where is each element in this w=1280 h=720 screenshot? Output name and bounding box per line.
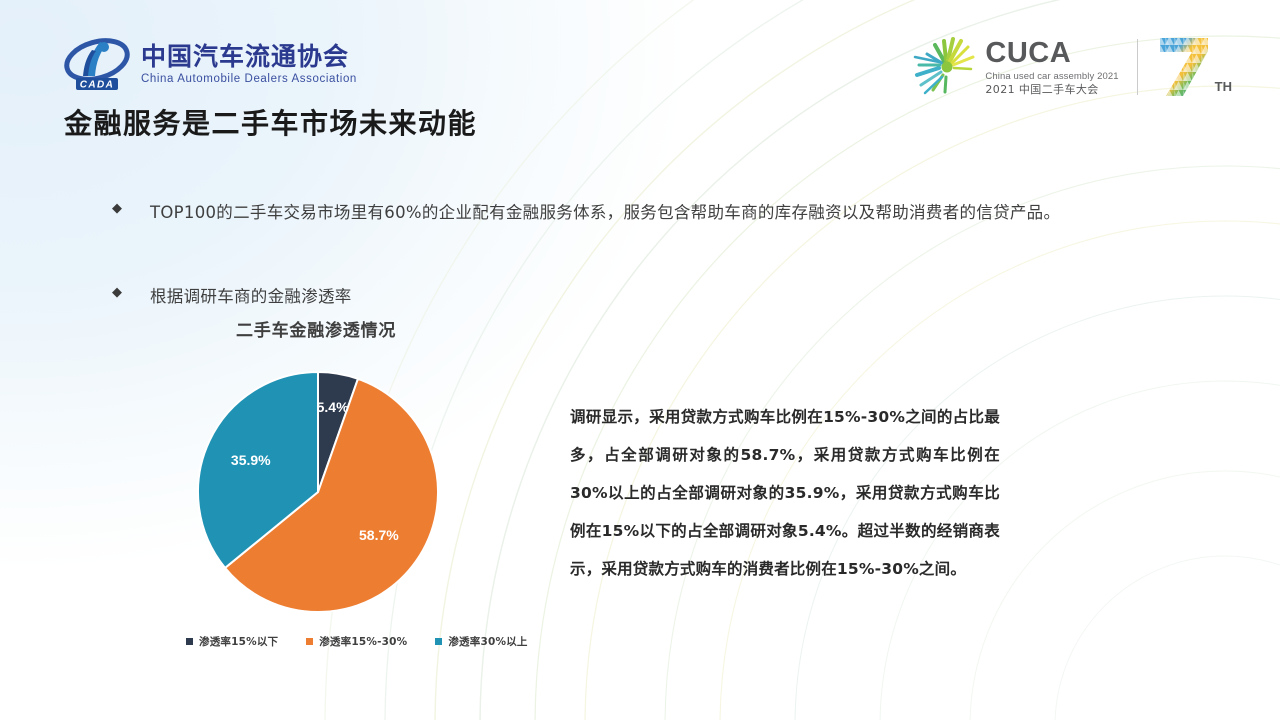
cuca-wordmark: CUCA	[985, 38, 1118, 68]
legend-item[interactable]: 渗透率30%以上	[435, 634, 527, 649]
diamond-bullet-icon: ◆	[112, 201, 128, 214]
legend-label: 渗透率15%以下	[199, 634, 278, 649]
seven-mosaic-icon	[1156, 36, 1212, 98]
chart-title: 二手车金融渗透情况	[236, 316, 396, 341]
logo-divider	[1137, 39, 1138, 95]
cuca-subtitle-en: China used car assembly 2021	[985, 71, 1118, 83]
legend-swatch-icon	[306, 638, 313, 645]
pie-slice-label: 58.7%	[359, 527, 399, 543]
chart-legend: 渗透率15%以下渗透率15%-30%渗透率30%以上	[186, 634, 528, 649]
cuca-subtitle-cn: 2021 中国二手车大会	[985, 83, 1118, 96]
cuca-logo: CUCA China used car assembly 2021 2021 中…	[913, 28, 1232, 106]
page-title: 金融服务是二手车市场未来动能	[64, 102, 477, 142]
bullet-item-2: ◆ 根据调研车商的金融渗透率	[112, 276, 1152, 318]
cada-logo: CADA 中国汽车流通协会 China Automobile Dealers A…	[62, 36, 357, 92]
legend-label: 渗透率15%-30%	[319, 634, 407, 649]
bullet-item-1: ◆ TOP100的二手车交易市场里有60%的企业配有金融服务体系，服务包含帮助车…	[112, 192, 1152, 234]
slide-canvas: CADA 中国汽车流通协会 China Automobile Dealers A…	[0, 0, 1280, 720]
bullet-list: ◆ TOP100的二手车交易市场里有60%的企业配有金融服务体系，服务包含帮助车…	[112, 192, 1152, 318]
pie-chart-graphic: 5.4%58.7%35.9%	[190, 366, 450, 618]
bullet-text-2: 根据调研车商的金融渗透率	[150, 276, 352, 318]
cuca-starburst-icon	[913, 35, 987, 99]
pie-chart: 5.4%58.7%35.9%	[190, 366, 450, 618]
bullet-text-1: TOP100的二手车交易市场里有60%的企业配有金融服务体系，服务包含帮助车商的…	[150, 192, 1060, 234]
svg-text:CADA: CADA	[80, 80, 115, 91]
legend-item[interactable]: 渗透率15%-30%	[306, 634, 407, 649]
pie-slice-label: 35.9%	[231, 452, 271, 468]
cada-emblem-icon: CADA	[62, 36, 132, 92]
analysis-paragraph: 调研显示，采用贷款方式购车比例在15%-30%之间的占比最多，占全部调研对象的5…	[570, 398, 1000, 588]
seventh-suffix: TH	[1215, 79, 1232, 98]
cada-name-en: China Automobile Dealers Association	[141, 72, 357, 86]
legend-swatch-icon	[435, 638, 442, 645]
diamond-bullet-icon: ◆	[112, 285, 128, 298]
seventh-edition-mark: TH	[1156, 36, 1232, 98]
legend-item[interactable]: 渗透率15%以下	[186, 634, 278, 649]
legend-swatch-icon	[186, 638, 193, 645]
legend-label: 渗透率30%以上	[448, 634, 527, 649]
cada-name-cn: 中国汽车流通协会	[141, 43, 357, 71]
pie-slice-label: 5.4%	[317, 399, 349, 415]
